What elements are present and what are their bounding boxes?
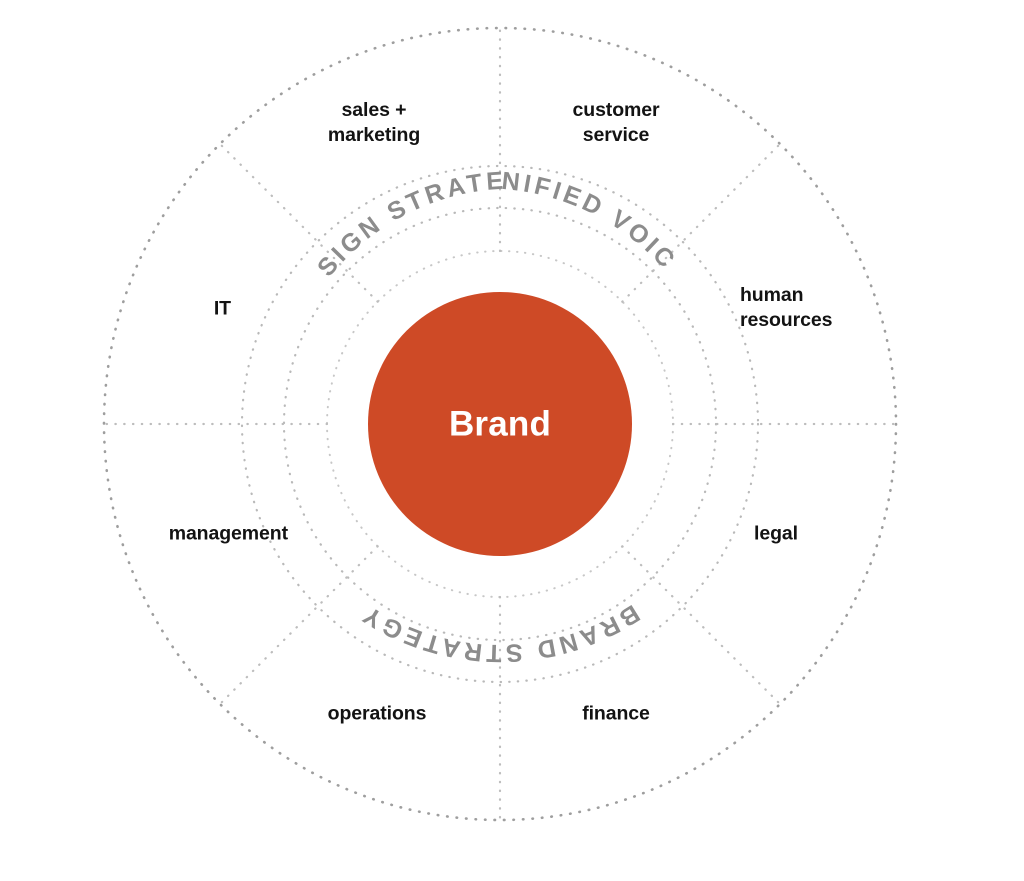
spoke-135: [220, 144, 378, 302]
dept-label-customer-service: customer service: [573, 98, 660, 148]
dept-label-legal: legal: [754, 522, 798, 547]
dept-label-sales-marketing: sales + marketing: [328, 98, 420, 148]
spoke-225: [220, 546, 378, 704]
brand-core-label: Brand: [449, 405, 551, 444]
dept-label-human-resources: human resources: [740, 283, 832, 333]
dept-label-management: management: [169, 522, 288, 547]
band-label-design-strategy: DESIGN STRATEGY: [0, 0, 508, 282]
brand-ecosystem-diagram: Brand DESIGN STRATEGY UNIFIED VOICE BRAN…: [0, 0, 1024, 881]
wheel-graphic: Brand DESIGN STRATEGY UNIFIED VOICE BRAN…: [0, 0, 1024, 881]
dept-label-operations: operations: [328, 702, 427, 727]
dept-label-it: IT: [214, 297, 231, 322]
spoke-315: [622, 546, 780, 704]
dept-label-finance: finance: [582, 702, 650, 727]
